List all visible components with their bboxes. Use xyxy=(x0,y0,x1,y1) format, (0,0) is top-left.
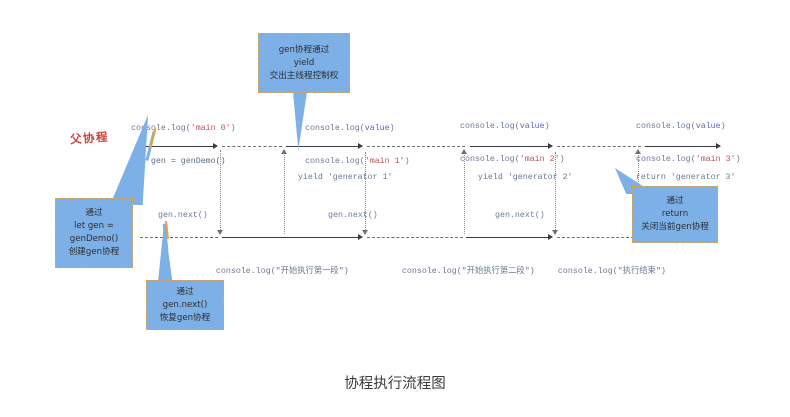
parent-coroutine-label: 父协程 xyxy=(69,129,109,148)
gen-next-label-1: gen.next() xyxy=(158,210,208,221)
gen-idle-0 xyxy=(140,237,218,238)
callout-create-gen-tail xyxy=(110,115,148,205)
transfer-down-2-arrow xyxy=(362,230,368,235)
gen-next-label-3: gen.next() xyxy=(495,210,545,221)
gen-idle-2 xyxy=(557,237,639,238)
gen-idle-1 xyxy=(367,237,463,238)
gen-next-label-2: gen.next() xyxy=(328,210,378,221)
transfer-down-3-arrow xyxy=(552,230,558,235)
transfer-up-1-arrow xyxy=(281,149,287,154)
callout-resume-gen: 通过 gen.next() 恢复gen协程 xyxy=(146,280,224,330)
gen-segment-1 xyxy=(222,237,360,238)
callout-resume-gen-tail xyxy=(158,222,180,282)
callout-gen-yield: gen协程通过 yield 交出主线程控制权 xyxy=(258,33,350,93)
gen-log-label-3: console.log("执行结束") xyxy=(538,255,666,288)
gen-log-label-2: console.log("开始执行第二段") xyxy=(382,255,535,288)
transfer-label-yield-2: yield 'generator 2' xyxy=(458,161,573,194)
figure-title: 协程执行流程图 xyxy=(0,372,790,393)
code-block-main0: console.log('main 0') let gen = genDemo(… xyxy=(131,101,236,189)
transfer-label-yield-1: yield 'generator 1' xyxy=(278,161,393,194)
gen-segment-2 xyxy=(466,237,550,238)
callout-close-gen: 通过 return 关闭当前gen协程 xyxy=(632,186,718,243)
diagram-canvas: 父协程 console.log('main 0') let gen = genD… xyxy=(0,0,790,417)
transfer-down-1-arrow xyxy=(217,230,223,235)
callout-create-gen: 通过 let gen = genDemo() 创建gen协程 xyxy=(55,198,133,268)
parent-idle-3 xyxy=(557,146,641,147)
